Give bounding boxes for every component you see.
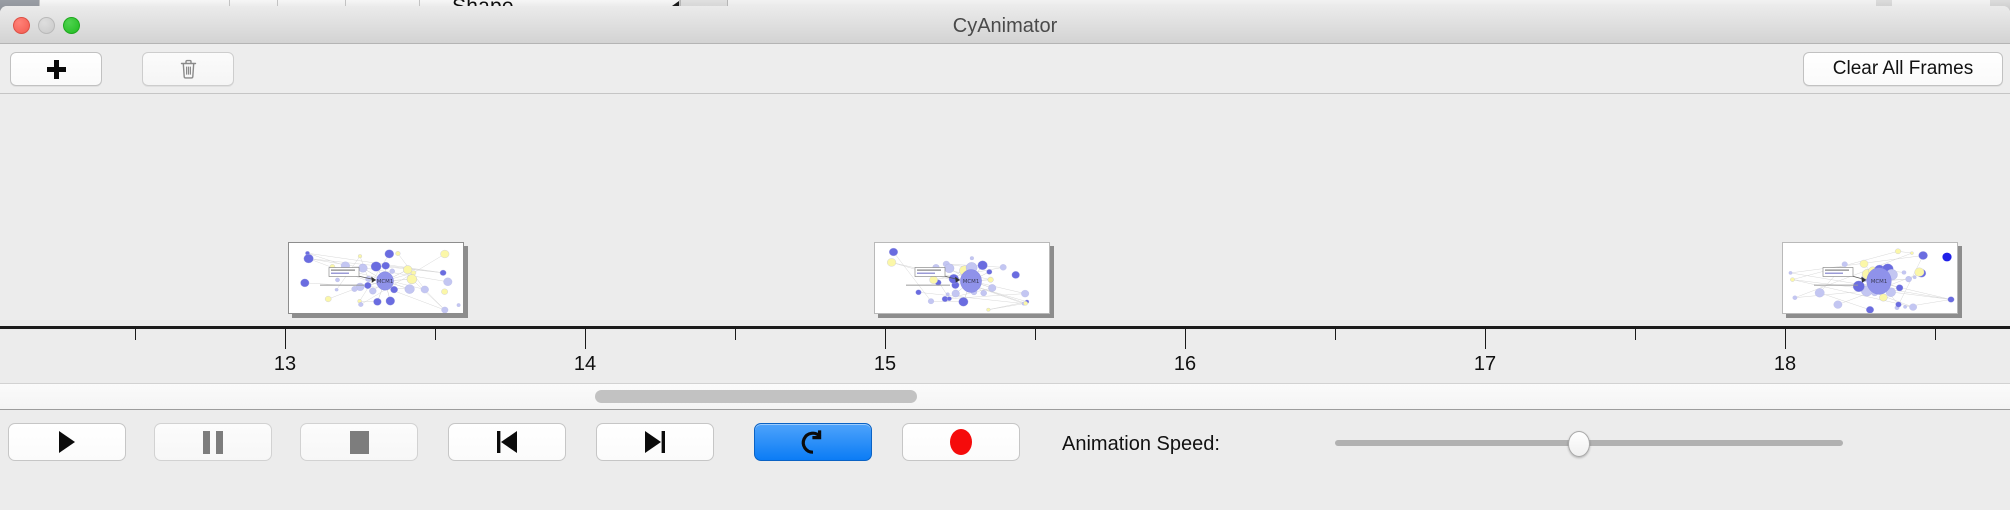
svg-text:MCM1: MCM1 [1871, 279, 1888, 285]
window-title: CyAnimator [0, 15, 2010, 38]
frames-area[interactable]: MCM1MCM1MCM1 [0, 94, 2010, 329]
network-graph-thumbnail: MCM1 [875, 243, 1049, 313]
animation-speed-label: Animation Speed: [1062, 433, 1220, 456]
skip-back-icon [494, 430, 520, 454]
tick-major [1785, 329, 1786, 349]
loop-button[interactable] [754, 423, 872, 461]
stop-button[interactable] [300, 423, 418, 461]
add-frame-button[interactable] [10, 52, 102, 86]
frame-thumbnail[interactable]: MCM1 [874, 242, 1050, 314]
horizontal-scrollbar[interactable] [0, 384, 2010, 410]
tick-minor [1935, 329, 1936, 340]
delete-frame-button[interactable] [142, 52, 234, 86]
record-icon [950, 429, 972, 455]
tick-label: 15 [874, 353, 896, 376]
svg-text:MCM1: MCM1 [377, 279, 394, 285]
plus-icon [47, 60, 66, 79]
tick-major [585, 329, 586, 349]
network-graph-thumbnail: MCM1 [289, 243, 463, 313]
tick-label: 16 [1174, 353, 1196, 376]
tick-minor [1335, 329, 1336, 340]
timeline-frame[interactable]: MCM1 [288, 242, 464, 314]
tick-major [885, 329, 886, 349]
cyanimator-window: CyAnimator Clear All Frames MCM1MCM1MCM1… [0, 6, 2010, 510]
skip-to-end-button[interactable] [596, 423, 714, 461]
tick-minor [135, 329, 136, 340]
skip-forward-icon [642, 430, 668, 454]
timeline-frame[interactable]: MCM1 [874, 242, 1050, 314]
timeline-axis [0, 326, 2010, 329]
stop-icon [350, 431, 369, 454]
titlebar: CyAnimator [0, 6, 2010, 44]
clear-all-frames-button[interactable]: Clear All Frames [1803, 52, 2003, 86]
scrollbar-thumb[interactable] [595, 390, 917, 403]
frame-thumbnail[interactable]: MCM1 [1782, 242, 1958, 314]
tick-label: 17 [1474, 353, 1496, 376]
tick-label: 13 [274, 353, 296, 376]
frame-thumbnail[interactable]: MCM1 [288, 242, 464, 314]
tick-minor [435, 329, 436, 340]
pause-button[interactable] [154, 423, 272, 461]
playback-controls: Animation Speed: [0, 410, 2010, 476]
loop-icon [800, 428, 826, 456]
tick-major [285, 329, 286, 349]
play-icon [57, 430, 77, 454]
play-button[interactable] [8, 423, 126, 461]
animation-speed-slider-knob[interactable] [1568, 431, 1590, 457]
clear-all-frames-label: Clear All Frames [1833, 58, 1973, 80]
tick-major [1485, 329, 1486, 349]
tick-minor [735, 329, 736, 340]
tick-label: 14 [574, 353, 596, 376]
svg-text:MCM1: MCM1 [963, 279, 980, 285]
tick-minor [1635, 329, 1636, 340]
pause-icon [203, 431, 223, 454]
record-button[interactable] [902, 423, 1020, 461]
toolbar: Clear All Frames [0, 44, 2010, 94]
tick-major [1185, 329, 1186, 349]
timeline-frame[interactable]: MCM1 [1782, 242, 1958, 314]
network-graph-thumbnail: MCM1 [1783, 243, 1957, 313]
tick-minor [1035, 329, 1036, 340]
timeline-panel[interactable]: MCM1MCM1MCM1 2131415161718 Seconds [0, 94, 2010, 384]
tick-label: 18 [1774, 353, 1796, 376]
skip-to-start-button[interactable] [448, 423, 566, 461]
trash-icon [180, 59, 197, 79]
